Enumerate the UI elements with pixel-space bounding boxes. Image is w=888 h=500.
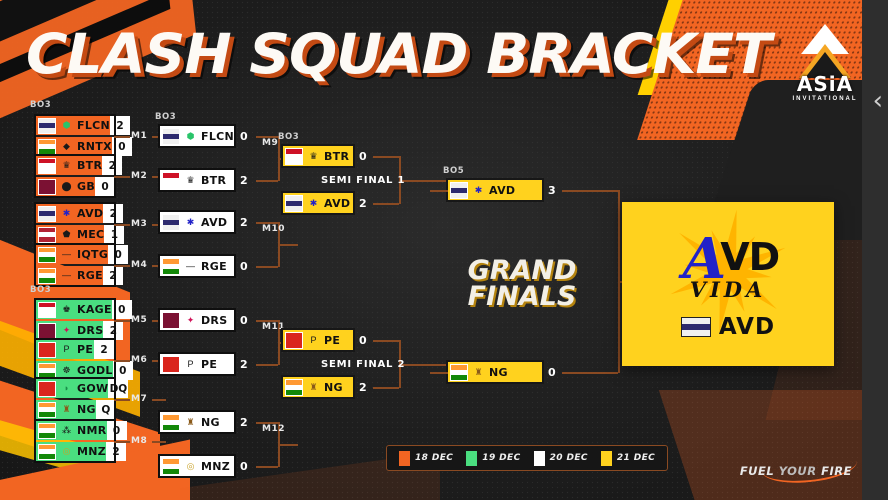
team-flag-icon bbox=[285, 148, 303, 165]
bracket-connector bbox=[562, 372, 618, 374]
team-body: ◎MNZ bbox=[180, 456, 234, 476]
team-score: 0 bbox=[240, 130, 248, 143]
bracket-slot[interactable]: ⬢FLCN bbox=[160, 126, 234, 146]
bracket-connector bbox=[373, 203, 399, 205]
team-logo-icon: ◎ bbox=[60, 445, 73, 458]
bracket-connector bbox=[278, 444, 298, 446]
logo-name: ASiA bbox=[797, 74, 853, 94]
match-tag: M9 bbox=[262, 138, 278, 148]
legend-color-swatch bbox=[399, 451, 410, 466]
team-score: 0 bbox=[112, 137, 132, 156]
team-name: FLCN bbox=[77, 119, 110, 132]
team-flag-icon bbox=[38, 302, 56, 318]
team-score: 2 bbox=[106, 442, 126, 461]
team-body: ♛BTR bbox=[56, 156, 102, 175]
team-name: GOW bbox=[77, 382, 108, 395]
match-tag: M10 bbox=[262, 224, 285, 234]
match-card[interactable]: ◗GOWDQ♜NGQ bbox=[36, 379, 114, 419]
legend-label: 20 DEC bbox=[550, 453, 588, 463]
team-body: ✦DRS bbox=[56, 321, 103, 340]
team-body: PPE bbox=[303, 330, 353, 350]
bracket-connector bbox=[256, 364, 278, 366]
match-team-row[interactable]: PPE2 bbox=[36, 340, 114, 359]
bracket-slot[interactable]: PPE bbox=[283, 330, 353, 350]
match-card[interactable]: ⁂NMR0◎MNZ2 bbox=[36, 421, 114, 461]
team-flag-icon bbox=[162, 128, 180, 145]
team-score: 0 bbox=[359, 150, 367, 163]
match-tag: M4 bbox=[131, 260, 147, 270]
team-score: 0 bbox=[108, 245, 128, 264]
team-body: ☸GODL bbox=[56, 361, 113, 380]
team-flag-icon bbox=[285, 379, 303, 396]
match-card[interactable]: PPE2☸GODL0 bbox=[36, 340, 114, 380]
team-flag-icon bbox=[162, 214, 180, 231]
match-tag: M5 bbox=[131, 315, 147, 325]
team-body: ✦DRS bbox=[180, 310, 234, 330]
bracket-slot[interactable]: ✦DRS bbox=[160, 310, 234, 330]
team-flag-icon bbox=[38, 323, 56, 339]
team-logo-icon: ♜ bbox=[184, 416, 197, 429]
legend-label: 18 DEC bbox=[415, 453, 453, 463]
match-team-row[interactable]: ◆RNTX0 bbox=[36, 137, 114, 156]
team-name: RNTX bbox=[77, 140, 112, 153]
team-logo-icon: ◆ bbox=[60, 140, 73, 153]
bracket-connector bbox=[114, 224, 130, 226]
team-flag-icon bbox=[162, 458, 180, 475]
team-name: AVD bbox=[201, 216, 227, 229]
champion-logo-a: A bbox=[683, 240, 726, 279]
champion-card: AVD VIDA AVD bbox=[622, 202, 834, 366]
team-score: DQ bbox=[108, 379, 128, 398]
team-logo-icon: P bbox=[184, 358, 197, 371]
team-flag-icon bbox=[162, 312, 180, 329]
team-score: 0 bbox=[240, 460, 248, 473]
team-body: ♜NG bbox=[468, 362, 542, 382]
match-card[interactable]: ✱AVD2⬟MEC1 bbox=[36, 204, 114, 244]
team-body: ✱AVD bbox=[180, 212, 234, 232]
team-logo-icon: — bbox=[60, 248, 73, 261]
team-score: 2 bbox=[359, 381, 367, 394]
team-logo-icon: ◗ bbox=[60, 382, 73, 395]
team-name: BTR bbox=[201, 174, 226, 187]
team-score: 1 bbox=[104, 225, 124, 244]
team-score: 3 bbox=[548, 184, 556, 197]
match-team-row[interactable]: ♜NGQ bbox=[36, 400, 114, 419]
team-body: ⬢FLCN bbox=[180, 126, 234, 146]
best-of-label: BO5 bbox=[443, 166, 464, 176]
legend-item: 20 DEC bbox=[534, 451, 588, 466]
bracket-connector bbox=[373, 387, 399, 389]
team-logo-icon: ♛ bbox=[307, 150, 320, 163]
match-team-row[interactable]: ✱AVD2 bbox=[36, 204, 114, 223]
bracket-slot[interactable]: ✱AVD bbox=[283, 193, 353, 213]
team-score: 0 bbox=[112, 300, 132, 319]
match-team-row[interactable]: ⬟MEC1 bbox=[36, 225, 114, 244]
team-flag-icon bbox=[285, 332, 303, 349]
team-name: NG bbox=[201, 416, 220, 429]
team-flag-icon bbox=[38, 444, 56, 460]
team-logo-icon: ⬤ bbox=[60, 180, 73, 193]
match-team-row[interactable]: ⬢FLCN2 bbox=[36, 116, 114, 135]
team-logo-icon: ✱ bbox=[472, 184, 485, 197]
team-flag-icon bbox=[162, 414, 180, 431]
team-flag-icon bbox=[162, 258, 180, 275]
tagline-word-2: YOUR bbox=[779, 464, 817, 478]
bracket-connector bbox=[114, 320, 130, 322]
match-team-row[interactable]: —IQTG0 bbox=[36, 245, 114, 264]
champion-logo: AVD VIDA bbox=[677, 232, 779, 302]
legend-label: 21 DEC bbox=[617, 453, 655, 463]
bracket-connector bbox=[562, 190, 618, 192]
match-tag: M8 bbox=[131, 436, 147, 446]
bracket-slot[interactable]: ♜NG bbox=[283, 377, 353, 397]
bracket-connector bbox=[114, 399, 130, 401]
team-flag-icon bbox=[38, 247, 56, 263]
bracket-connector bbox=[152, 399, 166, 401]
bracket-connector bbox=[114, 176, 130, 178]
team-score: 0 bbox=[548, 366, 556, 379]
team-body: ✱AVD bbox=[303, 193, 353, 213]
legend-label: 19 DEC bbox=[482, 453, 520, 463]
bracket-connector bbox=[256, 266, 278, 268]
bracket-slot[interactable]: ♛BTR bbox=[283, 146, 353, 166]
match-team-row[interactable]: ⬤GB0 bbox=[36, 177, 114, 196]
team-logo-icon: ◎ bbox=[184, 460, 197, 473]
team-flag-icon bbox=[450, 182, 468, 199]
team-body: ♜NG bbox=[56, 400, 96, 419]
team-score: 2 bbox=[240, 358, 248, 371]
bracket-slot[interactable]: PPE bbox=[160, 354, 234, 374]
team-flag-icon bbox=[38, 227, 56, 243]
team-flag-icon bbox=[285, 195, 303, 212]
match-tag: M1 bbox=[131, 131, 147, 141]
tagline-word-1: FUEL bbox=[740, 464, 774, 478]
logo-subtitle: INVITATIONAL bbox=[792, 96, 857, 102]
match-tag: M2 bbox=[131, 171, 147, 181]
team-logo-icon: P bbox=[307, 334, 320, 347]
match-tag: M7 bbox=[131, 394, 147, 404]
bracket-connector bbox=[256, 466, 278, 468]
bracket-slot[interactable]: ♜NG bbox=[160, 412, 234, 432]
bracket-slot[interactable]: —RGE bbox=[160, 256, 234, 276]
match-team-row[interactable]: ◎MNZ2 bbox=[36, 442, 114, 461]
team-logo-icon: ✱ bbox=[60, 207, 73, 220]
team-name: KAGE bbox=[77, 303, 112, 316]
team-name: NMR bbox=[77, 424, 107, 437]
bracket-slot[interactable]: ♜NG bbox=[448, 362, 542, 382]
team-name: PE bbox=[201, 358, 217, 371]
bracket-connector bbox=[278, 244, 298, 246]
bracket-connector bbox=[373, 156, 399, 158]
team-score: 2 bbox=[359, 197, 367, 210]
team-logo-icon: — bbox=[60, 269, 73, 282]
legend-item: 19 DEC bbox=[466, 451, 520, 466]
bracket-connector bbox=[430, 190, 448, 192]
page-title: CLASH SQUAD BRACKET bbox=[26, 22, 771, 86]
match-team-row[interactable]: ✦DRS2 bbox=[36, 321, 114, 340]
match-card[interactable]: —IQTG0—RGE2 bbox=[36, 245, 114, 285]
best-of-label: BO3 bbox=[30, 100, 51, 110]
team-score: 2 bbox=[94, 340, 114, 359]
team-flag-icon bbox=[38, 139, 56, 155]
team-logo-icon: ♜ bbox=[472, 366, 485, 379]
champion-footer: AVD bbox=[681, 314, 775, 340]
match-card[interactable]: ♚KAGE0✦DRS2 bbox=[36, 300, 114, 340]
chevron-left-icon[interactable]: ‹ bbox=[873, 88, 883, 114]
team-name: FLCN bbox=[201, 130, 234, 143]
tagline-word-3: FIRE bbox=[821, 464, 852, 478]
team-body: ⁂NMR bbox=[56, 421, 107, 440]
team-logo-icon: ✦ bbox=[60, 324, 73, 337]
team-logo-icon: ⬟ bbox=[60, 228, 73, 241]
team-score: 0 bbox=[240, 260, 248, 273]
team-flag-icon bbox=[38, 206, 56, 222]
team-logo-icon: ♜ bbox=[307, 381, 320, 394]
team-name: DRS bbox=[77, 324, 103, 337]
team-name: MNZ bbox=[77, 445, 106, 458]
team-logo-icon: ✱ bbox=[184, 216, 197, 229]
team-flag-icon bbox=[162, 172, 180, 189]
team-score: 0 bbox=[95, 177, 115, 196]
team-flag-icon bbox=[38, 158, 56, 174]
team-logo-icon: ✱ bbox=[307, 197, 320, 210]
team-name: IQTG bbox=[77, 248, 108, 261]
team-body: PPE bbox=[56, 340, 94, 359]
team-score: 0 bbox=[240, 314, 248, 327]
team-flag-icon bbox=[450, 364, 468, 381]
team-score: 2 bbox=[240, 216, 248, 229]
right-rail bbox=[862, 0, 888, 500]
team-logo-icon: ⬢ bbox=[60, 119, 73, 132]
team-name: PE bbox=[324, 334, 340, 347]
match-tag: M6 bbox=[131, 355, 147, 365]
team-body: ✱AVD bbox=[56, 204, 103, 223]
match-card[interactable]: ⬢FLCN2◆RNTX0 bbox=[36, 116, 114, 156]
team-score: 2 bbox=[103, 204, 123, 223]
team-logo-icon: ⬢ bbox=[184, 130, 197, 143]
team-name: NG bbox=[77, 403, 96, 416]
legend-color-swatch bbox=[466, 451, 477, 466]
team-flag-icon bbox=[38, 268, 56, 284]
team-flag-icon bbox=[38, 402, 56, 418]
bracket-connector bbox=[373, 340, 399, 342]
match-team-row[interactable]: ☸GODL0 bbox=[36, 361, 114, 380]
legend-color-swatch bbox=[534, 451, 545, 466]
team-name: GODL bbox=[77, 364, 113, 377]
team-body: ♛BTR bbox=[303, 146, 353, 166]
team-logo-icon: ♜ bbox=[60, 403, 73, 416]
team-body: —IQTG bbox=[56, 245, 108, 264]
bracket-slot[interactable]: ♛BTR bbox=[160, 170, 234, 190]
team-flag-icon bbox=[38, 118, 56, 134]
team-name: PE bbox=[77, 343, 93, 356]
bracket-slot[interactable]: ◎MNZ bbox=[160, 456, 234, 476]
team-name: BTR bbox=[324, 150, 349, 163]
semifinal-label: SEMI FINAL 2 bbox=[321, 359, 405, 370]
team-flag-icon bbox=[38, 342, 56, 358]
team-body: ✱AVD bbox=[468, 180, 542, 200]
legend-color-swatch bbox=[601, 451, 612, 466]
semifinal-label: SEMI FINAL 1 bbox=[321, 175, 405, 186]
team-logo-icon: ✦ bbox=[184, 314, 197, 327]
bracket-connector bbox=[114, 360, 130, 362]
match-team-row[interactable]: ⁂NMR0 bbox=[36, 421, 114, 440]
champion-team-name: AVD bbox=[719, 314, 775, 340]
team-name: DRS bbox=[201, 314, 227, 327]
team-flag-icon bbox=[38, 363, 56, 379]
asia-invitational-logo: ASiA INVITATIONAL bbox=[786, 26, 864, 102]
team-flag-icon bbox=[162, 356, 180, 373]
team-name: GB bbox=[77, 180, 95, 193]
bracket-slot[interactable]: ✱AVD bbox=[160, 212, 234, 232]
best-of-label: BO3 bbox=[155, 112, 176, 122]
legend-item: 21 DEC bbox=[601, 451, 655, 466]
team-body: ◆RNTX bbox=[56, 137, 112, 156]
best-of-label: BO3 bbox=[30, 285, 51, 295]
team-body: ♜NG bbox=[180, 412, 234, 432]
team-name: RGE bbox=[201, 260, 227, 273]
team-body: ◎MNZ bbox=[56, 442, 106, 461]
legend-item: 18 DEC bbox=[399, 451, 453, 466]
team-score: Q bbox=[96, 400, 116, 419]
footer-tagline: FUEL YOUR FIRE bbox=[740, 464, 852, 478]
bracket-connector bbox=[114, 441, 130, 443]
team-name: MEC bbox=[77, 228, 104, 241]
team-score: 2 bbox=[103, 266, 123, 285]
bracket-slot[interactable]: ✱AVD bbox=[448, 180, 542, 200]
match-tag: M3 bbox=[131, 219, 147, 229]
champion-flag-icon bbox=[681, 317, 711, 337]
team-score: 2 bbox=[240, 416, 248, 429]
team-body: ◗GOW bbox=[56, 379, 108, 398]
team-flag-icon bbox=[38, 423, 56, 439]
team-logo-icon: ♛ bbox=[184, 174, 197, 187]
team-body: ⬟MEC bbox=[56, 225, 104, 244]
team-score: 0 bbox=[107, 421, 127, 440]
bracket-connector bbox=[256, 180, 278, 182]
team-body: ⬤GB bbox=[56, 177, 95, 196]
team-score: 0 bbox=[359, 334, 367, 347]
team-body: ♛BTR bbox=[180, 170, 234, 190]
team-name: NG bbox=[489, 366, 508, 379]
team-body: ⬢FLCN bbox=[56, 116, 110, 135]
team-logo-icon: ☸ bbox=[60, 364, 73, 377]
match-team-row[interactable]: —RGE2 bbox=[36, 266, 114, 285]
team-logo-icon: ⁂ bbox=[60, 424, 73, 437]
match-team-row[interactable]: ♛BTR2 bbox=[36, 156, 114, 175]
bracket-connector bbox=[152, 441, 166, 443]
match-card[interactable]: ♛BTR2⬤GB0 bbox=[36, 156, 114, 196]
team-logo-icon: — bbox=[184, 260, 197, 273]
bracket-stage: CLASH SQUAD BRACKET ASiA INVITATIONAL ⬢F… bbox=[0, 0, 888, 500]
team-score: 2 bbox=[240, 174, 248, 187]
bracket-connector bbox=[430, 372, 448, 374]
team-name: AVD bbox=[77, 207, 103, 220]
team-body: ♚KAGE bbox=[56, 300, 112, 319]
team-score: 2 bbox=[102, 156, 122, 175]
team-logo-icon: ♚ bbox=[60, 303, 73, 316]
team-name: RGE bbox=[77, 269, 103, 282]
team-flag-icon bbox=[38, 179, 56, 195]
team-logo-icon: P bbox=[60, 343, 73, 356]
team-body: —RGE bbox=[180, 256, 234, 276]
bracket-connector bbox=[114, 265, 130, 267]
match-tag: M12 bbox=[262, 424, 285, 434]
best-of-label: BO3 bbox=[278, 132, 299, 142]
team-name: BTR bbox=[77, 159, 102, 172]
team-name: AVD bbox=[324, 197, 350, 210]
team-body: PPE bbox=[180, 354, 234, 374]
team-score: 2 bbox=[110, 116, 130, 135]
team-name: NG bbox=[324, 381, 343, 394]
team-name: AVD bbox=[489, 184, 515, 197]
team-body: ♜NG bbox=[303, 377, 353, 397]
team-score: 0 bbox=[113, 361, 133, 380]
bracket-connector bbox=[114, 136, 130, 138]
team-body: —RGE bbox=[56, 266, 103, 285]
team-score: 2 bbox=[103, 321, 123, 340]
team-name: MNZ bbox=[201, 460, 230, 473]
date-legend: 18 DEC19 DEC20 DEC21 DEC bbox=[386, 445, 668, 471]
match-tag: M11 bbox=[262, 322, 285, 332]
champion-logo-vd: VD bbox=[720, 235, 779, 279]
team-logo-icon: ♛ bbox=[60, 159, 73, 172]
team-flag-icon bbox=[38, 381, 56, 397]
match-team-row[interactable]: ◗GOWDQ bbox=[36, 379, 114, 398]
match-team-row[interactable]: ♚KAGE0 bbox=[36, 300, 114, 319]
